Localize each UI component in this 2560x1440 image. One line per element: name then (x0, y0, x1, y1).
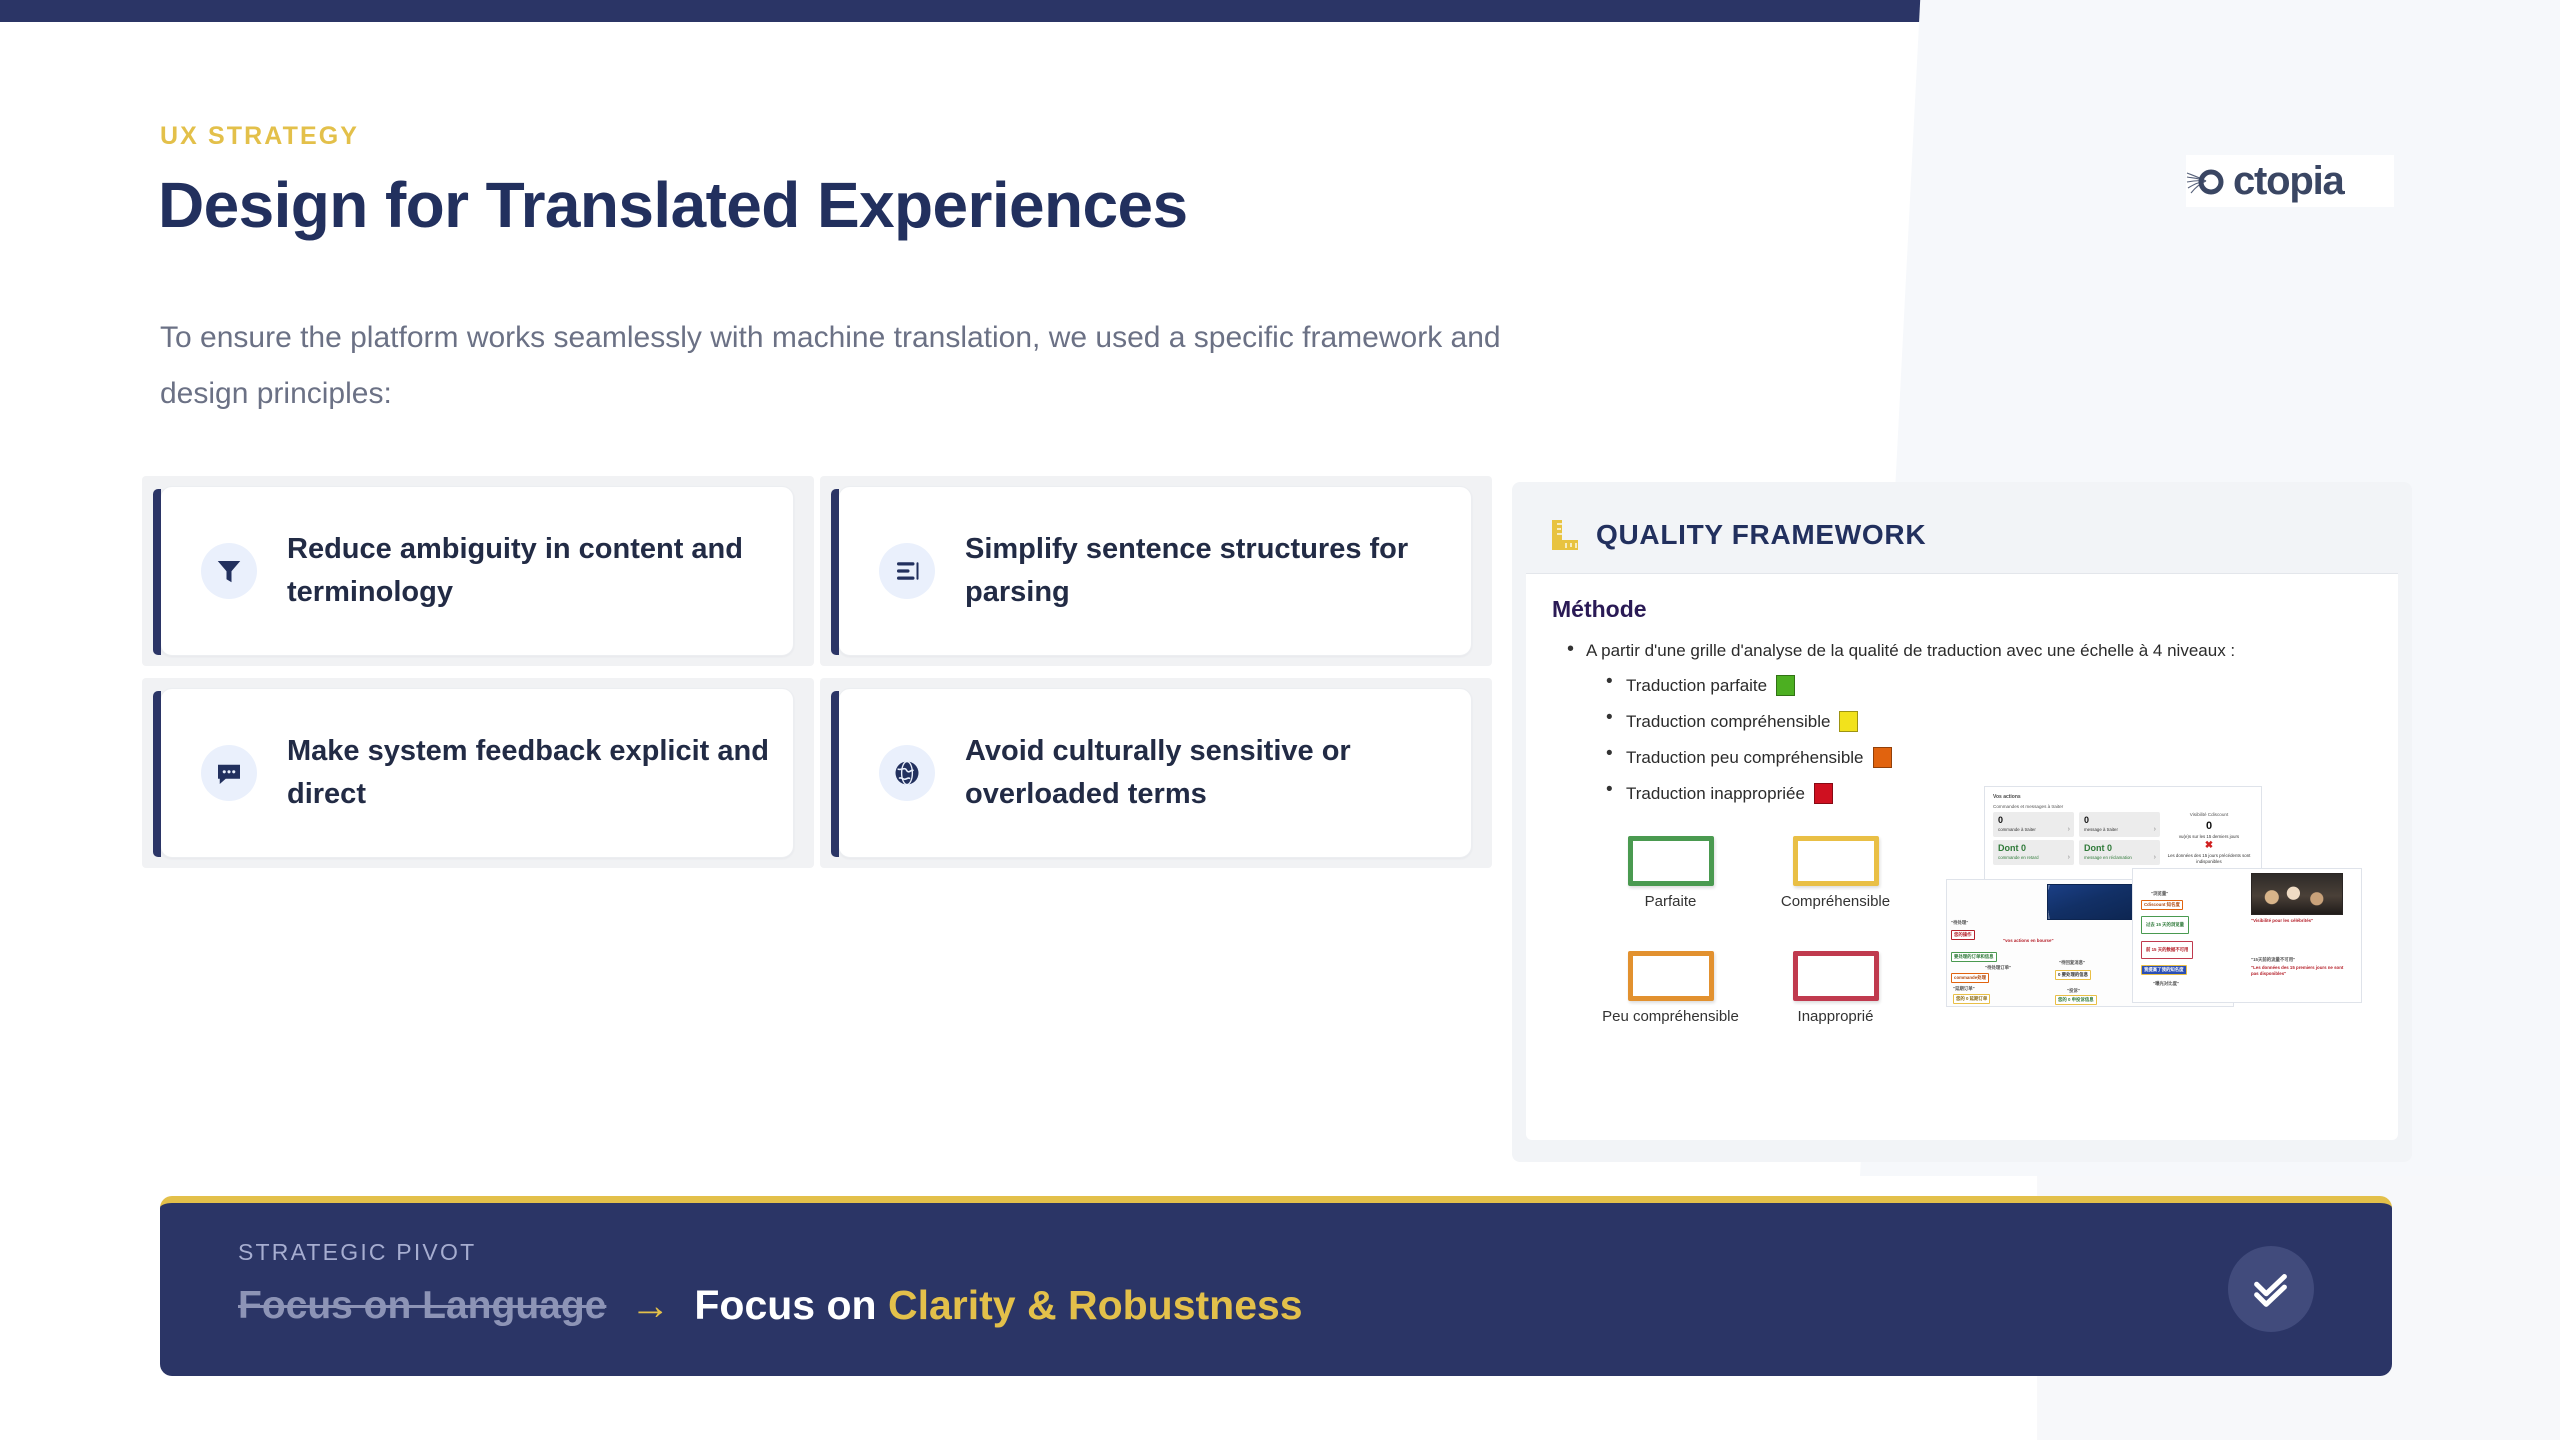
mini-section-label: Commandes et messages à traiter (1993, 804, 2253, 809)
quality-framework-panel: QUALITY FRAMEWORK Méthode A partir d'une… (1512, 482, 2412, 1162)
mini-tile: 0 message à traiter › (2079, 812, 2160, 837)
quality-framework-header: QUALITY FRAMEWORK (1526, 496, 2398, 574)
principle-card-shell: Make system feedback explicit and direct (142, 678, 814, 868)
annotation: 要处理的订单和信息 (1951, 952, 1997, 962)
principle-label: Simplify sentence structures for parsing (965, 528, 1471, 614)
grade-legend: Parfaite Compréhensible Peu compréhensib… (1588, 836, 1918, 1066)
mini-tile-label: commande en retard (1998, 855, 2069, 861)
logo-wordmark: ctopia (2233, 161, 2344, 201)
principle-card-shell: Avoid culturally sensitive or overloaded… (820, 678, 1492, 868)
globe-icon (879, 745, 935, 801)
mini-tile: 0 commande à traiter › (1993, 812, 2074, 837)
quality-levels-list: Traduction parfaite Traduction compréhen… (1626, 675, 2372, 804)
method-heading: Méthode (1552, 596, 2372, 623)
pivot-statement: Focus on Language → Focus on Clarity & R… (238, 1282, 1303, 1329)
embedded-screenshot-visibility: "Visibilité pour les célébrités" "浏览量" C… (2132, 868, 2362, 1003)
level-color-swatch (1776, 675, 1795, 696)
principle-card-shell: Reduce ambiguity in content and terminol… (142, 476, 814, 666)
grade-peu-comprehensible: Peu compréhensible (1588, 951, 1753, 1066)
page-subtitle: To ensure the platform works seamlessly … (160, 310, 1590, 422)
principle-label: Make system feedback explicit and direct (287, 730, 793, 816)
principle-card-cultural-terms[interactable]: Avoid culturally sensitive or overloaded… (838, 688, 1472, 858)
stock-chart-thumbnail (2047, 884, 2143, 920)
pivot-new-focus: Focus on Clarity & Robustness (694, 1282, 1302, 1329)
pivot-eyebrow: STRATEGIC PIVOT (238, 1239, 476, 1266)
annotation: 0 要处理的信息 (2055, 970, 2091, 980)
annotation: 我提高了我的知名度 (2141, 965, 2187, 975)
method-lead-text: A partir d'une grille d'analyse de la qu… (1586, 641, 2372, 661)
funnel-icon (201, 543, 257, 599)
quality-level-item: Traduction peu compréhensible (1626, 747, 2372, 768)
mini-count: Dont 0 (2084, 844, 2155, 853)
principle-label: Avoid culturally sensitive or overloaded… (965, 730, 1471, 816)
principle-label: Reduce ambiguity in content and terminol… (287, 528, 793, 614)
annotation: "待处理订单" (1985, 965, 2011, 971)
grade-label: Parfaite (1588, 893, 1753, 911)
annotation: 您的操作 (1951, 930, 1975, 940)
annotation: "待回复消息" (2059, 960, 2085, 966)
strategic-pivot-banner: STRATEGIC PIVOT Focus on Language → Focu… (160, 1196, 2392, 1376)
level-label: Traduction compréhensible (1626, 712, 1830, 732)
mini-tile-label: message en réclamation (2084, 855, 2155, 861)
principle-card-reduce-ambiguity[interactable]: Reduce ambiguity in content and terminol… (160, 486, 794, 656)
grade-inapproprie: Inapproprié (1753, 951, 1918, 1066)
annotation: "15天前的流量不可用" (2251, 957, 2295, 963)
quality-level-item: Traduction compréhensible (1626, 711, 2372, 732)
pivot-new-prefix: Focus on (694, 1282, 888, 1328)
double-check-icon[interactable] (2228, 1246, 2314, 1332)
annotation: 前 15 天的数据不可用 (2141, 941, 2193, 959)
ruler-icon (1548, 518, 1580, 552)
grade-box (1628, 951, 1714, 1001)
mini-heading: Vos actions (1993, 794, 2253, 800)
grade-label: Inapproprié (1753, 1008, 1918, 1026)
mini-count: Dont 0 (1998, 844, 2069, 853)
annotation: commande处理 (1951, 973, 1989, 983)
quality-framework-title: QUALITY FRAMEWORK (1596, 519, 1926, 551)
level-label: Traduction parfaite (1626, 676, 1767, 696)
level-color-swatch (1814, 783, 1833, 804)
annotation: "浏览量" (2151, 891, 2168, 897)
annotation: "待处理" (1951, 920, 1968, 926)
grade-label: Compréhensible (1753, 893, 1918, 911)
error-cross-icon: ✖ (2165, 840, 2253, 851)
page-title: Design for Translated Experiences (158, 168, 1187, 242)
grade-parfaite: Parfaite (1588, 836, 1753, 951)
chevron-right-icon: › (2154, 854, 2156, 861)
chat-bubble-icon (201, 745, 257, 801)
chevron-right-icon: › (2068, 826, 2070, 833)
annotation: "Visibilité pour les célébrités" (2251, 918, 2313, 923)
annotation: "曝光对比度" (2153, 981, 2179, 987)
quality-level-item: Traduction parfaite (1626, 675, 2372, 696)
octopia-logo: ctopia (2186, 155, 2394, 207)
mini-visibility-note: Les données des 15 jours précédents sont… (2165, 853, 2253, 865)
principle-card-simplify-sentences[interactable]: Simplify sentence structures for parsing (838, 486, 1472, 656)
mini-tile-label: message à traiter (2084, 827, 2155, 833)
principles-grid: Reduce ambiguity in content and terminol… (142, 476, 1492, 868)
mini-count: 0 (2084, 816, 2155, 825)
mini-tile: Dont 0 commande en retard › (1993, 840, 2074, 865)
annotation: 您的 0 申投诉信息 (2055, 995, 2097, 1005)
level-color-swatch (1839, 711, 1858, 732)
grade-comprehensible: Compréhensible (1753, 836, 1918, 951)
principle-card-shell: Simplify sentence structures for parsing (820, 476, 1492, 666)
mini-tile-label: commande à traiter (1998, 827, 2069, 833)
text-lines-icon (879, 543, 935, 599)
principle-card-system-feedback[interactable]: Make system feedback explicit and direct (160, 688, 794, 858)
octopus-o-icon (2186, 159, 2230, 203)
mini-visibility-count: 0 (2165, 820, 2253, 832)
celebrity-photo-thumbnail (2251, 873, 2343, 915)
mini-tile: Dont 0 message en réclamation › (2079, 840, 2160, 865)
grade-box (1628, 836, 1714, 886)
level-label: Traduction inappropriée (1626, 784, 1805, 804)
annotation: "投诉" (2067, 988, 2080, 994)
grade-box (1793, 836, 1879, 886)
quality-framework-body: Méthode A partir d'une grille d'analyse … (1526, 574, 2398, 1140)
chevron-right-icon: › (2154, 826, 2156, 833)
pivot-new-highlight: Clarity & Robustness (888, 1282, 1303, 1328)
level-color-swatch (1873, 747, 1892, 768)
eyebrow-label: UX STRATEGY (160, 122, 359, 151)
grade-box (1793, 951, 1879, 1001)
chevron-right-icon: › (2068, 854, 2070, 861)
annotation: 您的 0 延期订单 (1953, 994, 1990, 1004)
annotation: "延期订单" (1953, 986, 1975, 992)
annotation: "vos actions en bourse" (2003, 938, 2054, 943)
embedded-screenshot-french: Vos actions Commandes et messages à trai… (1984, 786, 2262, 881)
level-label: Traduction peu compréhensible (1626, 748, 1864, 768)
annotation: "Les données des 15 premiers jours ne so… (2251, 965, 2351, 977)
mini-visibility-title: Visibilité Cdiscount (2165, 812, 2253, 817)
slide-root: UX STRATEGY Design for Translated Experi… (0, 0, 2560, 1440)
mini-count: 0 (1998, 816, 2069, 825)
annotation: 过去 15 天的浏览量 (2141, 916, 2189, 934)
annotation: Cdiscount 知名度 (2141, 900, 2183, 910)
grade-label: Peu compréhensible (1588, 1008, 1753, 1026)
screenshot-mosaic: Vos actions Commandes et messages à trai… (1946, 786, 2366, 1106)
pivot-old-focus: Focus on Language (238, 1284, 606, 1328)
arrow-right-icon: → (630, 1286, 670, 1326)
top-accent-bar (0, 0, 1922, 22)
